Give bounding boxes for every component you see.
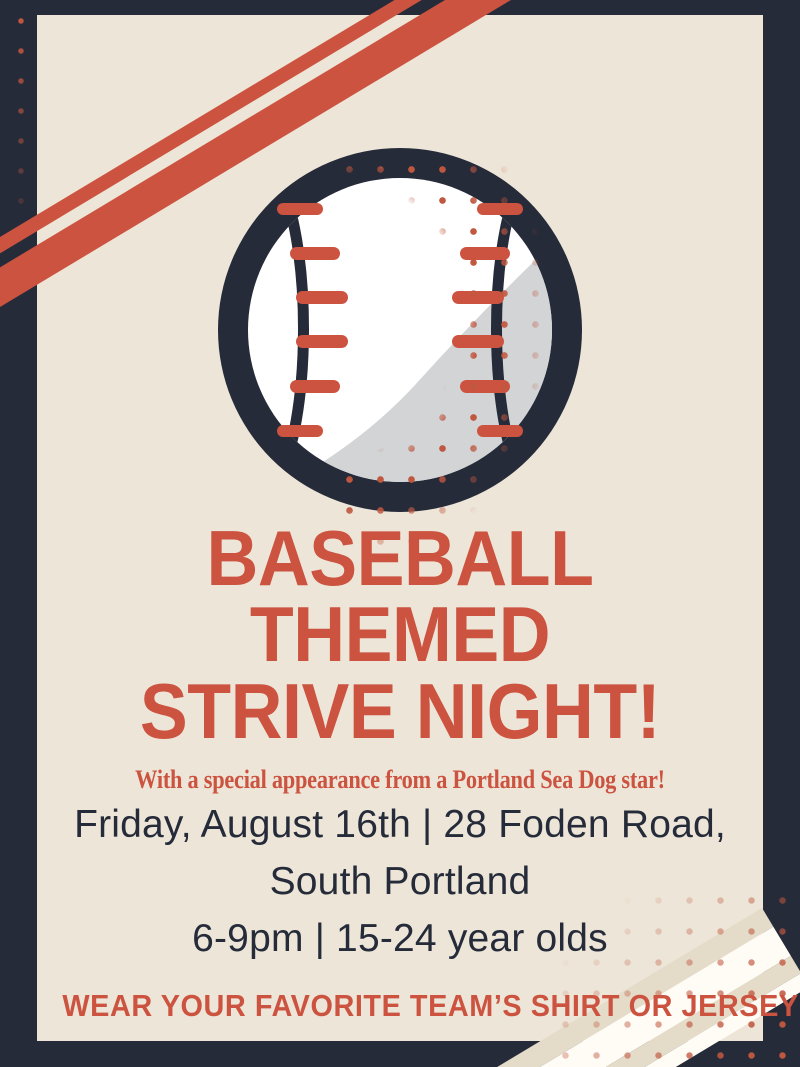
poster-text-content: BASEBALL THEMED STRIVE NIGHT! With a spe… bbox=[37, 520, 763, 1024]
special-guest-line: With a special appearance from a Portlan… bbox=[88, 765, 712, 795]
poster-headline: BASEBALL THEMED STRIVE NIGHT! bbox=[66, 520, 734, 749]
call-to-action-line: WEAR YOUR FAVORITE TEAM’S SHIRT OR JERSE… bbox=[62, 988, 737, 1024]
baseball-icon bbox=[205, 135, 595, 525]
event-date-location-line-1: Friday, August 16th | 28 Foden Road, bbox=[37, 801, 763, 850]
event-location-line-2: South Portland bbox=[37, 858, 763, 907]
baseball-graphic bbox=[205, 135, 595, 525]
headline-line-2: STRIVE NIGHT! bbox=[66, 673, 734, 749]
poster-canvas: BASEBALL THEMED STRIVE NIGHT! With a spe… bbox=[0, 0, 800, 1067]
event-time-age-line: 6-9pm | 15-24 year olds bbox=[37, 915, 763, 964]
headline-line-1: BASEBALL THEMED bbox=[206, 514, 593, 678]
